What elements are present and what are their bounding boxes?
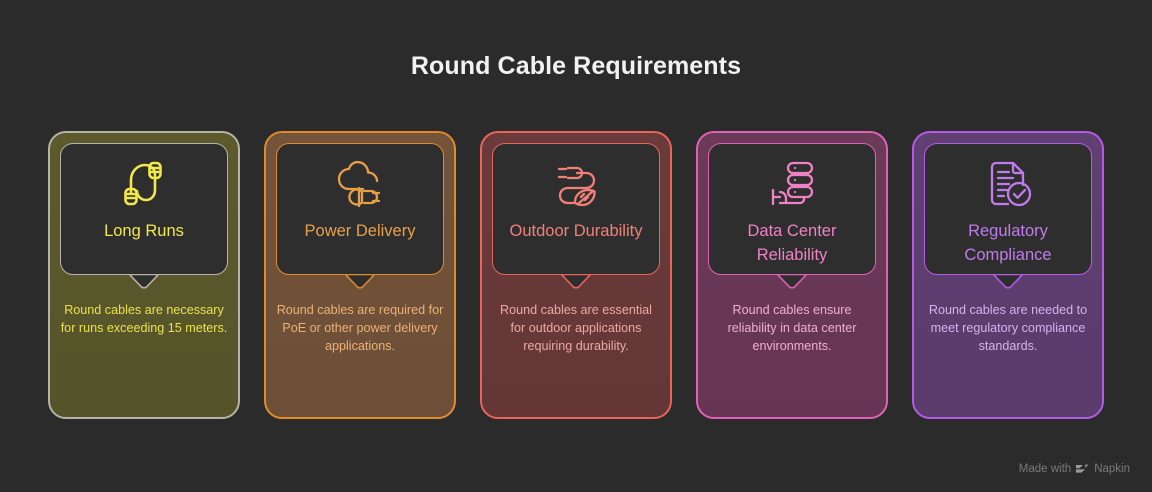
card-description: Round cables are required for PoE or oth… — [276, 301, 444, 355]
plug-leaf-icon — [548, 155, 604, 213]
napkin-watermark: Made with Napkin — [1019, 463, 1130, 475]
card-title: Long Runs — [64, 219, 223, 243]
server-stack-icon — [764, 155, 820, 213]
card-title: Outdoor Durability — [496, 219, 655, 243]
made-with-label: Made with — [1019, 463, 1071, 475]
card-title: Power Delivery — [280, 219, 439, 243]
card-description: Round cables are necessary for runs exce… — [60, 301, 228, 337]
speech-tail — [993, 274, 1023, 290]
card-regulatory-compliance[interactable]: Regulatory Compliance Round cables are n… — [912, 131, 1104, 419]
cable-icon — [116, 155, 172, 213]
card-header-panel: Outdoor Durability — [492, 143, 660, 275]
cards-row: Long Runs Round cables are necessary for… — [48, 131, 1104, 419]
speech-tail — [345, 274, 375, 290]
card-data-center-reliability[interactable]: Data Center Reliability Round cables ens… — [696, 131, 888, 419]
napkin-chevrons-icon — [1076, 464, 1089, 475]
document-check-icon — [980, 155, 1036, 213]
page-title: Round Cable Requirements — [0, 52, 1152, 81]
cloud-plug-icon — [332, 155, 388, 213]
speech-tail — [561, 274, 591, 290]
napkin-brand-label: Napkin — [1094, 463, 1130, 475]
speech-tail — [129, 274, 159, 290]
card-long-runs[interactable]: Long Runs Round cables are necessary for… — [48, 131, 240, 419]
card-description: Round cables ensure reliability in data … — [708, 301, 876, 355]
card-title: Data Center Reliability — [712, 219, 871, 267]
card-description: Round cables are needed to meet regulato… — [924, 301, 1092, 355]
card-power-delivery[interactable]: Power Delivery Round cables are required… — [264, 131, 456, 419]
card-header-panel: Power Delivery — [276, 143, 444, 275]
card-description: Round cables are essential for outdoor a… — [492, 301, 660, 355]
card-outdoor-durability[interactable]: Outdoor Durability Round cables are esse… — [480, 131, 672, 419]
card-header-panel: Regulatory Compliance — [924, 143, 1092, 275]
speech-tail — [777, 274, 807, 290]
card-header-panel: Long Runs — [60, 143, 228, 275]
card-title: Regulatory Compliance — [928, 219, 1087, 267]
card-header-panel: Data Center Reliability — [708, 143, 876, 275]
